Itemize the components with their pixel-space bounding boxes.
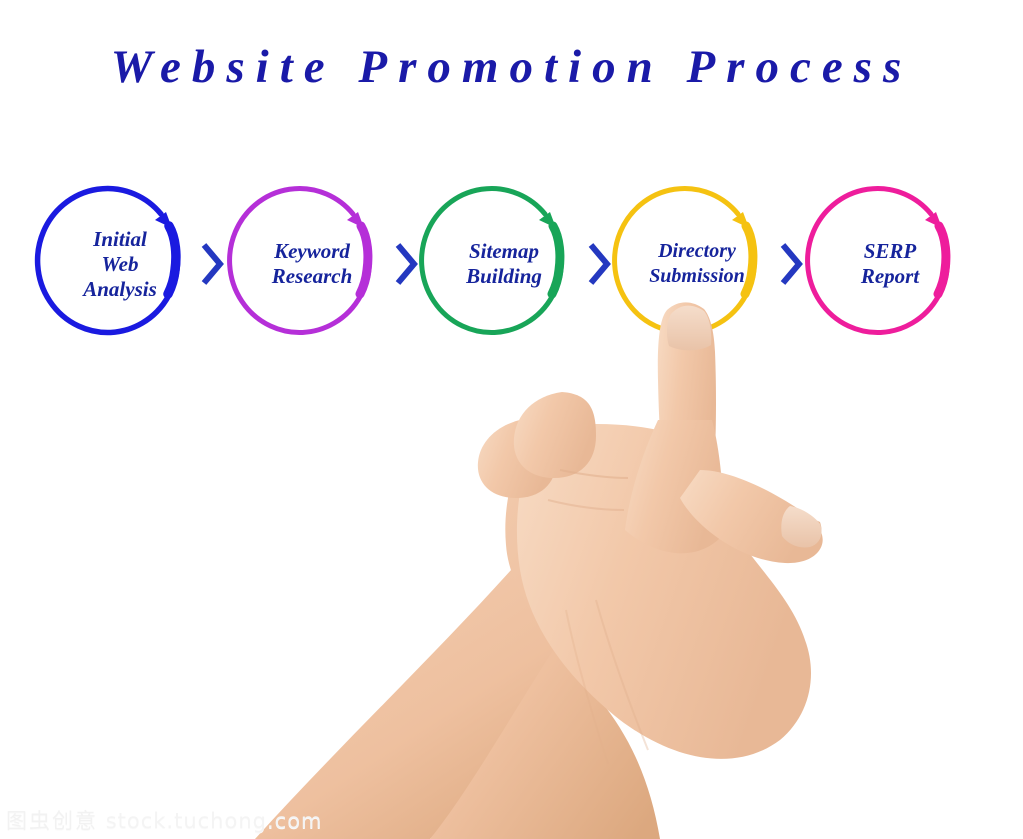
process-flow: Initial Web Analysis Keyword Research [0, 190, 1023, 340]
process-step-keyword-research[interactable]: Keyword Research [237, 190, 387, 338]
knuckle-crease [560, 470, 628, 478]
process-step-label-2: Keyword Research [237, 190, 387, 338]
thumbnail [781, 506, 821, 547]
folded-finger-upper [478, 418, 556, 498]
connector-chevron-right-3 [586, 240, 614, 288]
connector-chevron-right-2 [393, 240, 421, 288]
palm-shape [430, 430, 660, 839]
watermark: 图虫创意 stock.tuchong.com [6, 805, 323, 835]
process-step-label-4: Directory Submission [622, 190, 772, 338]
label-line: Analysis [83, 277, 157, 302]
connector-chevron-right-4 [778, 240, 806, 288]
process-step-label-5: SERP Report [815, 190, 965, 338]
folded-finger-middle [514, 392, 596, 478]
tendon-line [566, 610, 608, 764]
process-step-serp-report[interactable]: SERP Report [815, 190, 965, 338]
label-line: Sitemap [469, 239, 539, 264]
hand-back-shape [517, 424, 811, 759]
label-line: Initial [93, 227, 147, 252]
label-line: Submission [649, 264, 745, 289]
label-line: Keyword [274, 239, 350, 264]
forearm-shape [255, 560, 600, 839]
process-step-directory-submission[interactable]: Directory Submission [622, 190, 772, 338]
process-step-label-3: Sitemap Building [429, 190, 579, 338]
label-line: Web [102, 252, 139, 277]
tendon-line [596, 600, 648, 750]
process-step-label-1: Initial Web Analysis [45, 190, 195, 338]
pointing-hand-illustration [0, 0, 1023, 839]
watermark-chinese: 图虫创意 [6, 809, 98, 833]
label-line: Research [272, 264, 353, 289]
index-finger-base [625, 420, 723, 553]
label-line: Report [861, 264, 919, 289]
knuckle-crease [548, 500, 624, 510]
thumb [740, 509, 821, 550]
process-step-initial-web-analysis[interactable]: Initial Web Analysis [45, 190, 195, 338]
label-line: SERP [864, 239, 917, 264]
page-title: Website Promotion Process [0, 40, 1023, 94]
label-line: Directory [658, 239, 736, 264]
process-step-sitemap-building[interactable]: Sitemap Building [429, 190, 579, 338]
illustration-canvas: Website Promotion Process Initial Web An… [0, 0, 1023, 839]
connector-chevron-right-1 [199, 240, 227, 288]
watermark-latin: stock.tuchong.com [106, 809, 323, 833]
label-line: Building [466, 264, 542, 289]
thumb-base [680, 470, 823, 563]
